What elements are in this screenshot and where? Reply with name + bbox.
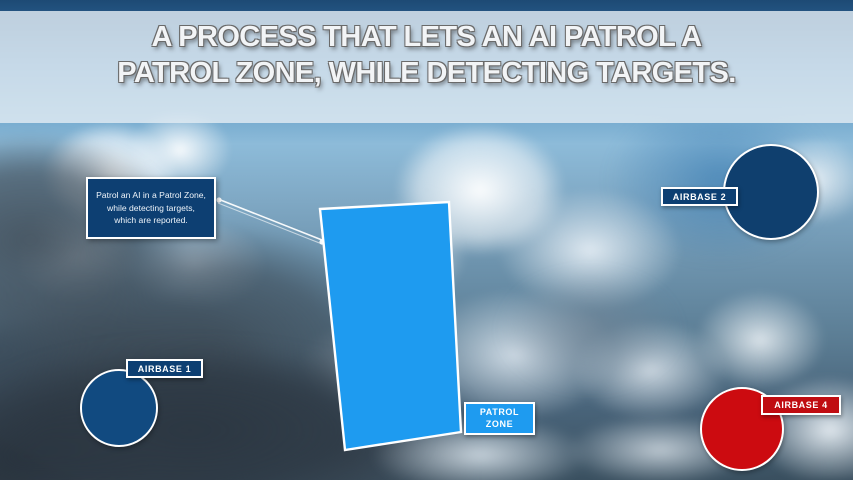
slide-canvas: A PROCESS THAT LETS AN AI PATROL A PATRO… [0, 0, 853, 480]
airbase-4-label[interactable]: AIRBASE 4 [761, 395, 841, 415]
callout-text: Patrol an AI in a Patrol Zone, while det… [92, 189, 210, 227]
airbase-1-circle[interactable] [80, 369, 158, 447]
patrol-zone-label[interactable]: PATROL ZONE [464, 402, 535, 435]
page-title: A PROCESS THAT LETS AN AI PATROL A PATRO… [0, 19, 853, 91]
airbase-2-label[interactable]: AIRBASE 2 [661, 187, 738, 206]
airbase-1-label[interactable]: AIRBASE 1 [126, 359, 203, 378]
cloud-lower-center [330, 400, 750, 480]
callout-box[interactable]: Patrol an AI in a Patrol Zone, while det… [86, 177, 216, 239]
cloud-shadow-core [470, 250, 720, 420]
